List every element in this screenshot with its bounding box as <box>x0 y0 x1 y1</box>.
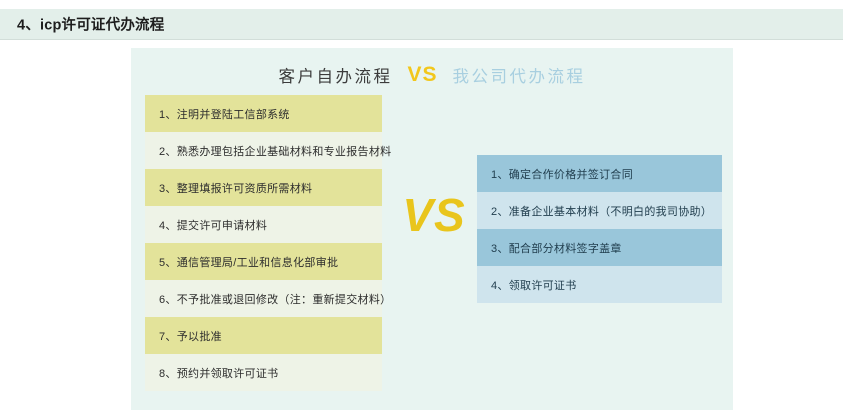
customer-flow-step: 7、予以批准 <box>145 317 382 354</box>
agency-flow-step: 4、领取许可证书 <box>477 266 722 303</box>
customer-flow-step: 8、预约并领取许可证书 <box>145 354 382 391</box>
customer-flow-step: 1、注明并登陆工信部系统 <box>145 95 382 132</box>
customer-flow-heading: 客户自办流程 <box>278 63 392 87</box>
agency-flow-heading: 我公司代办流程 <box>453 63 586 87</box>
section-header: 4、icp许可证代办流程 <box>0 9 843 40</box>
customer-flow-step: 2、熟悉办理包括企业基础材料和专业报告材料 <box>145 132 382 169</box>
customer-flow-step: 5、通信管理局/工业和信息化部审批 <box>145 243 382 280</box>
agency-flow-step: 2、准备企业基本材料（不明白的我司协助） <box>477 192 722 229</box>
agency-flow-step: 3、配合部分材料签字盖章 <box>477 229 722 266</box>
customer-flow-step: 6、不予批准或退回修改（注：重新提交材料） <box>145 280 382 317</box>
versus-divider: VS <box>394 192 474 238</box>
customer-flow-column: 1、注明并登陆工信部系统 2、熟悉办理包括企业基础材料和专业报告材料 3、整理填… <box>145 95 382 391</box>
figure-heading: 客户自办流程 VS 我公司代办流程 <box>131 58 733 92</box>
customer-flow-step: 3、整理填报许可资质所需材料 <box>145 169 382 206</box>
page-title: 4、icp许可证代办流程 <box>17 14 164 35</box>
agency-flow-column: 1、确定合作价格并签订合同 2、准备企业基本材料（不明白的我司协助） 3、配合部… <box>477 155 722 303</box>
comparison-figure: 客户自办流程 VS 我公司代办流程 1、注明并登陆工信部系统 2、熟悉办理包括企… <box>131 48 733 410</box>
customer-flow-step: 4、提交许可申请材料 <box>145 206 382 243</box>
agency-flow-step: 1、确定合作价格并签订合同 <box>477 155 722 192</box>
heading-vs-label: VS <box>407 63 437 87</box>
